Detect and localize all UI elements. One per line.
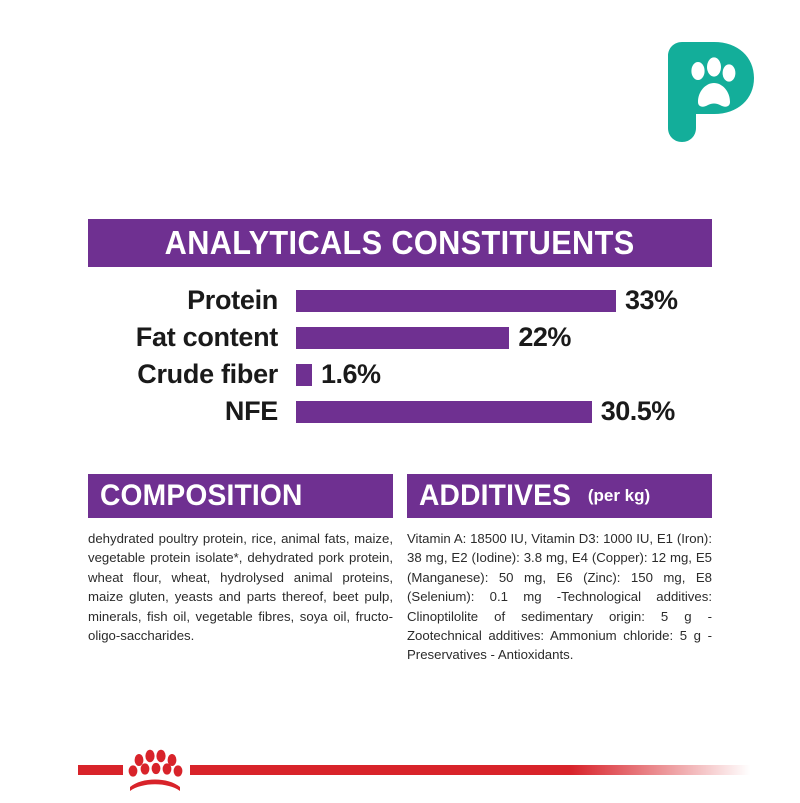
royal-canin-crown-icon — [120, 746, 190, 798]
chart-value-label: 30.5% — [601, 396, 675, 427]
paw-in-p-icon — [668, 42, 754, 142]
chart-value-label: 33% — [625, 285, 678, 316]
analyticals-title: ANALYTICALS CONSTITUENTS — [165, 224, 635, 262]
footer-brand-strip — [0, 748, 800, 800]
chart-bar-track: 22% — [296, 319, 718, 356]
chart-row: Crude fiber 1.6% — [88, 356, 718, 393]
chart-category-label: Protein — [88, 285, 296, 316]
product-info-sheet: ANALYTICALS CONSTITUENTS Protein 33% Fat… — [0, 0, 800, 800]
composition-header-bar: COMPOSITION — [88, 474, 393, 518]
additives-text: Vitamin A: 18500 IU, Vitamin D3: 1000 IU… — [407, 529, 712, 665]
chart-value-label: 1.6% — [321, 359, 381, 390]
chart-category-label: NFE — [88, 396, 296, 427]
chart-bar-track: 1.6% — [296, 356, 718, 393]
footer-rule-right — [190, 765, 750, 775]
composition-panel: COMPOSITION dehydrated poultry protein, … — [88, 474, 393, 665]
footer-dash-left — [78, 765, 123, 775]
additives-panel: ADDITIVES (per kg) Vitamin A: 18500 IU, … — [407, 474, 712, 665]
additives-heading: ADDITIVES — [419, 479, 571, 513]
chart-bar — [296, 364, 312, 386]
chart-bar — [296, 401, 592, 423]
chart-bar-track: 30.5% — [296, 393, 718, 430]
composition-text: dehydrated poultry protein, rice, animal… — [88, 529, 393, 645]
chart-bar-track: 33% — [296, 282, 718, 319]
chart-bar — [296, 290, 616, 312]
additives-subheading: (per kg) — [588, 486, 650, 506]
info-panels: COMPOSITION dehydrated poultry protein, … — [88, 474, 712, 665]
chart-row: NFE 30.5% — [88, 393, 718, 430]
chart-bar — [296, 327, 509, 349]
chart-category-label: Crude fiber — [88, 359, 296, 390]
chart-category-label: Fat content — [88, 322, 296, 353]
chart-value-label: 22% — [518, 322, 571, 353]
chart-row: Protein 33% — [88, 282, 718, 319]
chart-row: Fat content 22% — [88, 319, 718, 356]
additives-header-bar: ADDITIVES (per kg) — [407, 474, 712, 518]
composition-heading: COMPOSITION — [100, 479, 303, 513]
analyticals-header-bar: ANALYTICALS CONSTITUENTS — [88, 219, 712, 267]
analyticals-bar-chart: Protein 33% Fat content 22% Crude fiber … — [88, 282, 718, 430]
